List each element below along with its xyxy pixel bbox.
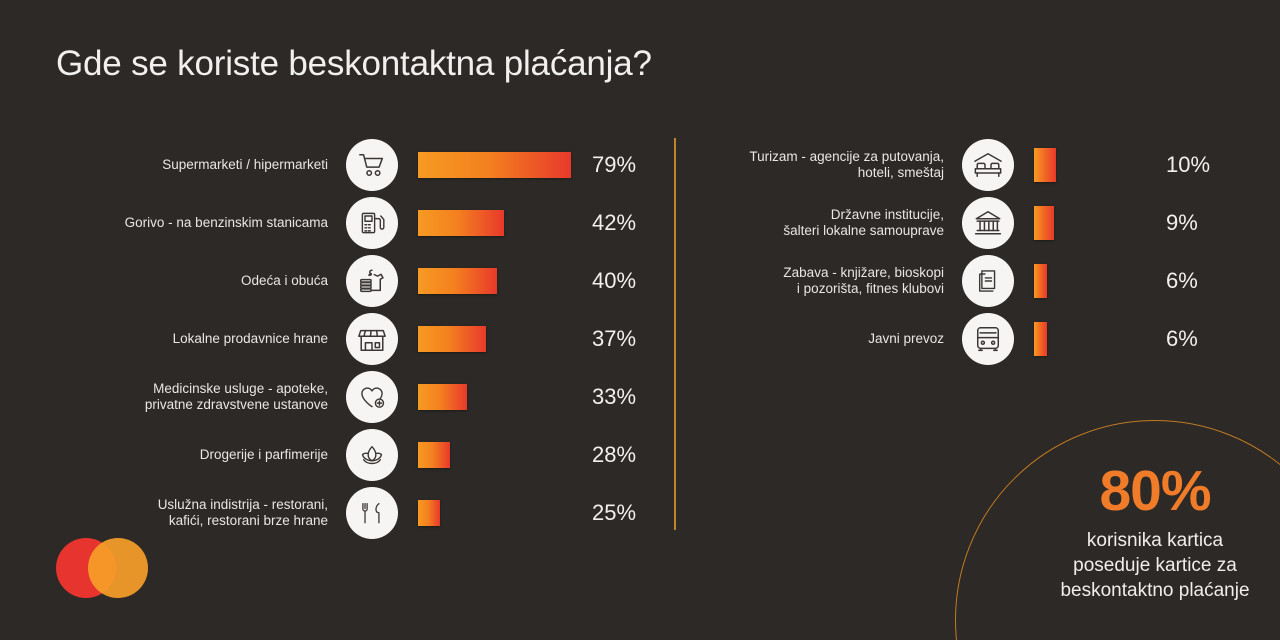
chart-row: Lokalne prodavnice hrane 37% bbox=[56, 310, 656, 368]
row-label: Supermarketi / hipermarketi bbox=[56, 157, 328, 173]
chart-row: Gorivo - na benzinskim stanicama 42% bbox=[56, 194, 656, 252]
bar-track bbox=[1034, 148, 1130, 182]
bar-fill bbox=[418, 442, 450, 468]
callout-percent: 80% bbox=[960, 462, 1280, 522]
bar-value-label: 6% bbox=[1166, 268, 1198, 294]
bar-fill bbox=[1034, 148, 1056, 182]
bar-track bbox=[418, 384, 578, 410]
bar-track bbox=[418, 442, 578, 468]
bar-value-label: 9% bbox=[1166, 210, 1198, 236]
hotel-bed-icon bbox=[962, 139, 1014, 191]
bar-fill bbox=[418, 326, 486, 352]
bar-fill bbox=[418, 152, 571, 178]
fuel-pump-icon bbox=[346, 197, 398, 249]
bar-value-label: 42% bbox=[592, 210, 636, 236]
bar-value-label: 6% bbox=[1166, 326, 1198, 352]
bar-track bbox=[1034, 264, 1130, 298]
chart-row: Turizam - agencije za putovanja, hoteli,… bbox=[700, 136, 1260, 194]
bar-value-label: 25% bbox=[592, 500, 636, 526]
right-column: Turizam - agencije za putovanja, hoteli,… bbox=[700, 136, 1260, 368]
callout-text: korisnika kartica poseduje kartice za be… bbox=[960, 528, 1280, 603]
chart-row: Uslužna indistrija - restorani, kafići, … bbox=[56, 484, 656, 542]
chart-row: Supermarketi / hipermarketi 79% bbox=[56, 136, 656, 194]
bar-fill bbox=[418, 500, 440, 526]
column-divider bbox=[674, 138, 676, 530]
bar-fill bbox=[418, 210, 504, 236]
bar-track bbox=[418, 500, 578, 526]
row-label: Medicinske usluge - apoteke, privatne zd… bbox=[56, 381, 328, 413]
bar-fill bbox=[1034, 264, 1047, 298]
government-bank-icon bbox=[962, 197, 1014, 249]
row-label: Uslužna indistrija - restorani, kafići, … bbox=[56, 497, 328, 529]
bar-track bbox=[1034, 206, 1130, 240]
mastercard-amber-circle bbox=[88, 538, 148, 598]
bus-icon bbox=[962, 313, 1014, 365]
row-label: Drogerije i parfimerije bbox=[56, 447, 328, 463]
page-title: Gde se koriste beskontaktna plaćanja? bbox=[56, 44, 652, 84]
mastercard-logo bbox=[56, 538, 148, 598]
bar-track bbox=[1034, 322, 1130, 356]
row-label: Javni prevoz bbox=[700, 331, 944, 347]
row-label: Zabava - knjižare, bioskopi i pozorišta,… bbox=[700, 265, 944, 297]
infographic-canvas: Gde se koriste beskontaktna plaćanja? Su… bbox=[0, 0, 1280, 640]
storefront-icon bbox=[346, 313, 398, 365]
chart-row: Zabava - knjižare, bioskopi i pozorišta,… bbox=[700, 252, 1260, 310]
bar-value-label: 40% bbox=[592, 268, 636, 294]
bar-fill bbox=[418, 268, 497, 294]
left-column: Supermarketi / hipermarketi 79%Gorivo - … bbox=[56, 136, 656, 542]
bar-track bbox=[418, 152, 578, 178]
callout-block: 80% korisnika kartica poseduje kartice z… bbox=[960, 462, 1280, 603]
bar-value-label: 33% bbox=[592, 384, 636, 410]
chart-row: Državne institucije, šalteri lokalne sam… bbox=[700, 194, 1260, 252]
bar-track bbox=[418, 210, 578, 236]
row-label: Gorivo - na benzinskim stanicama bbox=[56, 215, 328, 231]
bar-value-label: 79% bbox=[592, 152, 636, 178]
shopping-cart-icon bbox=[346, 139, 398, 191]
bar-value-label: 10% bbox=[1166, 152, 1210, 178]
bar-track bbox=[418, 326, 578, 352]
bar-value-label: 37% bbox=[592, 326, 636, 352]
bar-fill bbox=[418, 384, 467, 410]
chart-row: Drogerije i parfimerije 28% bbox=[56, 426, 656, 484]
heart-plus-icon bbox=[346, 371, 398, 423]
clothing-icon bbox=[346, 255, 398, 307]
row-label: Odeća i obuća bbox=[56, 273, 328, 289]
bar-value-label: 28% bbox=[592, 442, 636, 468]
row-label: Državne institucije, šalteri lokalne sam… bbox=[700, 207, 944, 239]
chart-row: Odeća i obuća 40% bbox=[56, 252, 656, 310]
bar-fill bbox=[1034, 322, 1047, 356]
row-label: Lokalne prodavnice hrane bbox=[56, 331, 328, 347]
books-icon bbox=[962, 255, 1014, 307]
chart-row: Javni prevoz 6% bbox=[700, 310, 1260, 368]
bar-fill bbox=[1034, 206, 1054, 240]
cutlery-icon bbox=[346, 487, 398, 539]
chart-row: Medicinske usluge - apoteke, privatne zd… bbox=[56, 368, 656, 426]
row-label: Turizam - agencije za putovanja, hoteli,… bbox=[700, 149, 944, 181]
bar-track bbox=[418, 268, 578, 294]
lotus-flower-icon bbox=[346, 429, 398, 481]
